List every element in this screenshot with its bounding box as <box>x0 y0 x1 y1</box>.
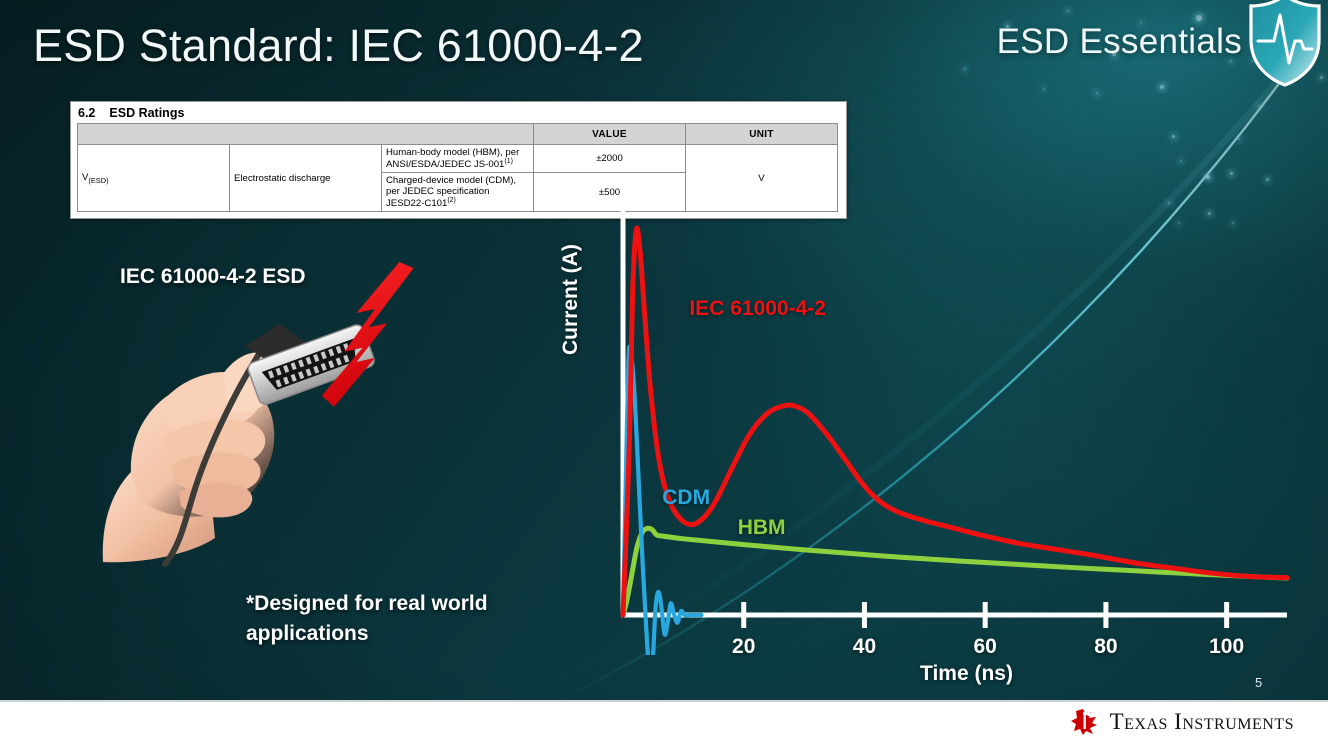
parameter-cell: Electrostatic discharge <box>230 145 382 212</box>
description-cell-cdm: Charged-device model (CDM), per JEDEC sp… <box>382 173 534 212</box>
description-cell-hbm: Human-body model (HBM), per ANSI/ESDA/JE… <box>382 145 534 173</box>
x-tick-label-40: 40 <box>853 635 876 659</box>
note-line-1: *Designed for real world <box>246 589 576 619</box>
chart-plot-area <box>565 195 1310 655</box>
section-number: 6.2 <box>78 106 95 120</box>
chart-x-axis-label: Time (ns) <box>920 662 1013 686</box>
value-column-header: VALUE <box>534 124 686 145</box>
note-line-2: applications <box>246 619 576 649</box>
esd-waveform-chart: Current (A) Time (ns) 20406080100 IEC 61… <box>565 195 1310 700</box>
table-row: V(ESD) Electrostatic discharge Human-bod… <box>78 145 838 173</box>
value-cell-hbm: ±2000 <box>534 145 686 173</box>
ti-wordmark: Texas Instruments <box>1110 709 1294 735</box>
section-title: ESD Ratings <box>109 106 184 120</box>
table-header-row: VALUE UNIT <box>78 124 838 145</box>
hand-holding-hdmi-connector-illustration <box>95 262 435 567</box>
x-tick-label-80: 80 <box>1094 635 1117 659</box>
description-text: Charged-device model (CDM), per JEDEC sp… <box>386 175 516 209</box>
shield-pulse-icon <box>1244 0 1326 89</box>
blank-header-cell <box>78 124 534 145</box>
x-tick-label-20: 20 <box>732 635 755 659</box>
table-section-heading: 6.2 ESD Ratings <box>71 102 846 123</box>
footnote-note: *Designed for real world applications <box>246 589 576 650</box>
series-label-iec-61000-4-2: IEC 61000-4-2 <box>689 297 826 321</box>
symbol-subscript: (ESD) <box>88 176 108 185</box>
chart-series-iec-61000-4-2 <box>623 228 1287 615</box>
page-title: ESD Standard: IEC 61000-4-2 <box>33 20 644 72</box>
series-label-cdm: CDM <box>662 486 710 510</box>
x-tick-label-60: 60 <box>973 635 996 659</box>
x-tick-label-100: 100 <box>1209 635 1244 659</box>
description-text: Human-body model (HBM), per ANSI/ESDA/JE… <box>386 147 519 170</box>
footnote-marker: (1) <box>504 158 513 165</box>
footnote-marker: (2) <box>447 197 456 204</box>
unit-column-header: UNIT <box>686 124 838 145</box>
symbol-cell: V(ESD) <box>78 145 230 212</box>
page-number: 5 <box>1255 675 1262 690</box>
brand-label: ESD Essentials <box>997 22 1242 62</box>
ti-texas-icon <box>1070 708 1100 736</box>
series-label-hbm: HBM <box>738 516 786 540</box>
slide-root: ESD Standard: IEC 61000-4-2 ESD Essentia… <box>0 0 1328 746</box>
chart-y-axis-label: Current (A) <box>559 244 583 355</box>
texas-instruments-logo: Texas Instruments <box>1070 708 1294 736</box>
